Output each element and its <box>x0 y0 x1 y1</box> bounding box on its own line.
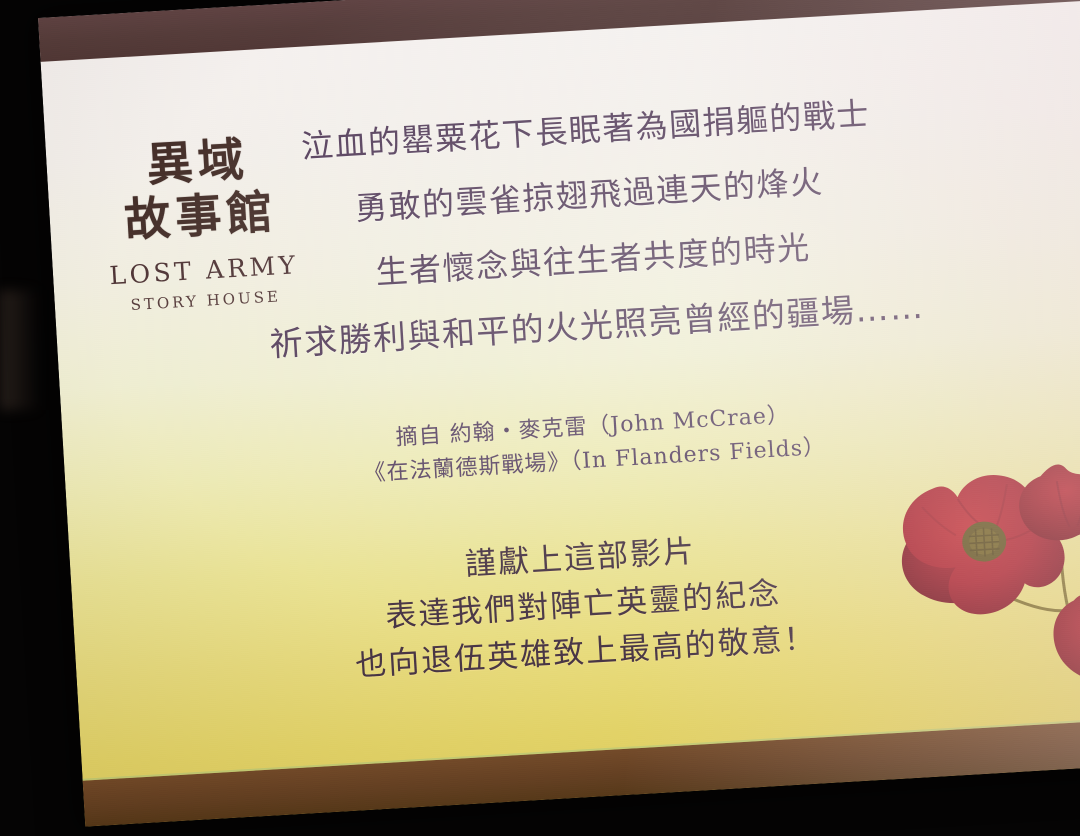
poem-line-2: 勇敢的雲雀掠翅飛過連天的烽火 <box>259 160 920 231</box>
poem-line-3: 生者懷念與往生者共度的時光 <box>263 225 924 296</box>
poppy-flowers-icon <box>859 435 1080 752</box>
room-light-glow <box>0 290 42 410</box>
projection-screen: 異域 故事館 LOST ARMY STORY HOUSE 泣血的罌粟花下長眠著為… <box>38 0 1080 827</box>
photo-of-projected-slide: 異域 故事館 LOST ARMY STORY HOUSE 泣血的罌粟花下長眠著為… <box>0 0 1080 836</box>
poem-block: 泣血的罌粟花下長眠著為國捐軀的戰士 勇敢的雲雀掠翅飛過連天的烽火 生者懷念與往生… <box>255 95 927 361</box>
